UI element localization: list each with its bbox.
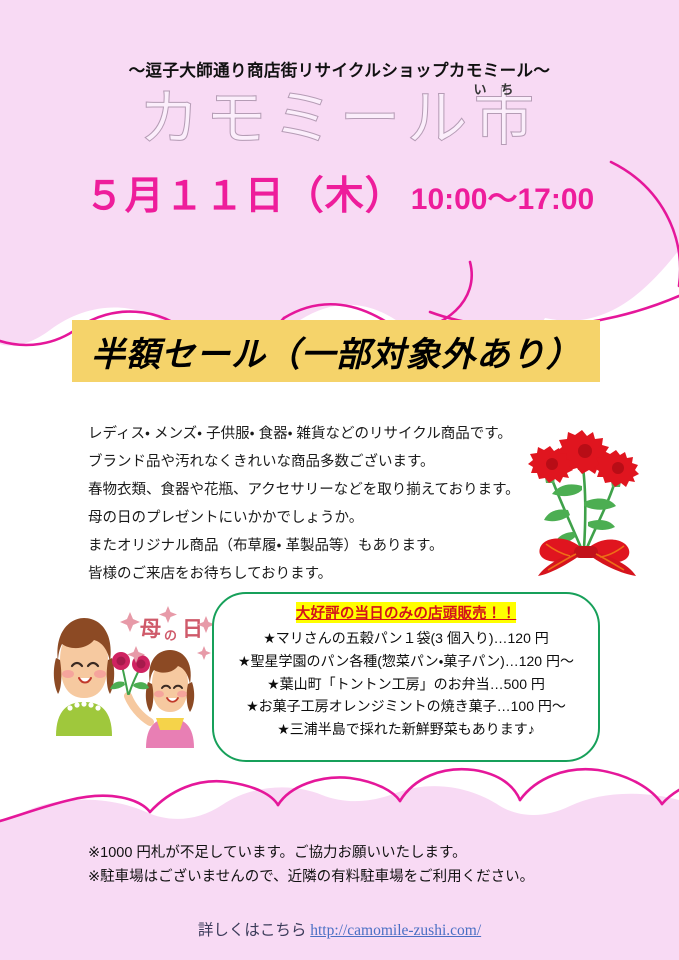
list-item: ★聖星学園のパン各種(惣菜パン・菓子パン)…120 円〜 bbox=[214, 650, 598, 673]
market-title-block: いち カモミール市 bbox=[0, 83, 679, 153]
flyer-header: 〜逗子大師通り商店街リサイクルショップカモミール〜 いち カモミール市 ５月１１… bbox=[0, 0, 679, 221]
sale-banner-text: 半額セール（一部対象外あり） bbox=[91, 327, 581, 376]
list-item: ★葉山町「トントン工房」のお弁当…500 円 bbox=[214, 673, 598, 696]
mother-and-child-illustration: 母 の 日 bbox=[22, 598, 222, 762]
list-item: ★三浦半島で採れた新鮮野菜もあります♪ bbox=[214, 718, 598, 741]
description-line: ブランド品や汚れなくきれいな商品多数ございます。 bbox=[88, 452, 558, 473]
svg-text:母: 母 bbox=[140, 618, 161, 641]
ribbon-bow bbox=[538, 539, 636, 577]
event-time: 10:00〜17:00 bbox=[411, 183, 594, 216]
description-line: 母の日のプレゼントにいかかでしょうか。 bbox=[88, 508, 558, 529]
list-item: ★お菓子工房オレンジミントの焼き菓子…100 円〜 bbox=[214, 695, 598, 718]
note-line: ※1000 円札が不足しています。ご協力お願いいたします。 bbox=[88, 843, 608, 863]
website-line: 詳しくはこちら http://camomile-zushi.com/ bbox=[0, 918, 679, 940]
half-price-sale-banner: 半額セール（一部対象外あり） bbox=[72, 320, 600, 382]
daily-sale-product-box: 大好評の当日のみの店頭販売！！ ★マリさんの五穀パン１袋(3 個入り)…120 … bbox=[212, 592, 600, 762]
description-line: 皆様のご来店をお待ちしております。 bbox=[88, 564, 558, 585]
flyer-page: 〜逗子大師通り商店街リサイクルショップカモミール〜 いち カモミール市 ５月１１… bbox=[0, 0, 679, 960]
event-date: ５月１１日（木） bbox=[85, 175, 405, 218]
shop-name-line: 〜逗子大師通り商店街リサイクルショップカモミール〜 bbox=[0, 0, 679, 81]
list-item: ★マリさんの五穀パン１袋(3 個入り)…120 円 bbox=[214, 627, 598, 650]
mother-figure bbox=[54, 618, 114, 736]
product-list: ★マリさんの五穀パン１袋(3 個入り)…120 円 ★聖星学園のパン各種(惣菜パ… bbox=[214, 627, 598, 741]
market-title-ruby: いち bbox=[0, 79, 679, 98]
svg-text:日: 日 bbox=[182, 618, 203, 641]
footer-notes: ※1000 円札が不足しています。ご協力お願いいたします。 ※駐車場はございませ… bbox=[88, 843, 608, 892]
note-line: ※駐車場はございませんので、近隣の有料駐車場をご利用ください。 bbox=[88, 867, 608, 887]
description-line: レディス・ メンズ・ 子供服・ 食器・ 雑貨などのリサイクル商品です。 bbox=[88, 424, 558, 445]
svg-text:の: の bbox=[164, 628, 177, 643]
child-flowers bbox=[110, 652, 150, 694]
description-line: 春物衣類、食器や花瓶、アクセサリーなどを取り揃えております。 bbox=[88, 480, 558, 501]
website-prefix-label: 詳しくはこちら bbox=[198, 922, 310, 939]
carnation-bouquet-illustration bbox=[524, 424, 670, 582]
website-url-link[interactable]: http://camomile-zushi.com/ bbox=[310, 922, 481, 939]
description-text-block: レディス・ メンズ・ 子供服・ 食器・ 雑貨などのリサイクル商品です。 ブランド… bbox=[88, 424, 558, 592]
event-date-line: ５月１１日（木）10:00〜17:00 bbox=[0, 153, 679, 221]
description-line: またオリジナル商品（布草履・ 革製品等）もあります。 bbox=[88, 536, 558, 557]
product-box-heading: 大好評の当日のみの店頭販売！！ bbox=[296, 602, 517, 623]
